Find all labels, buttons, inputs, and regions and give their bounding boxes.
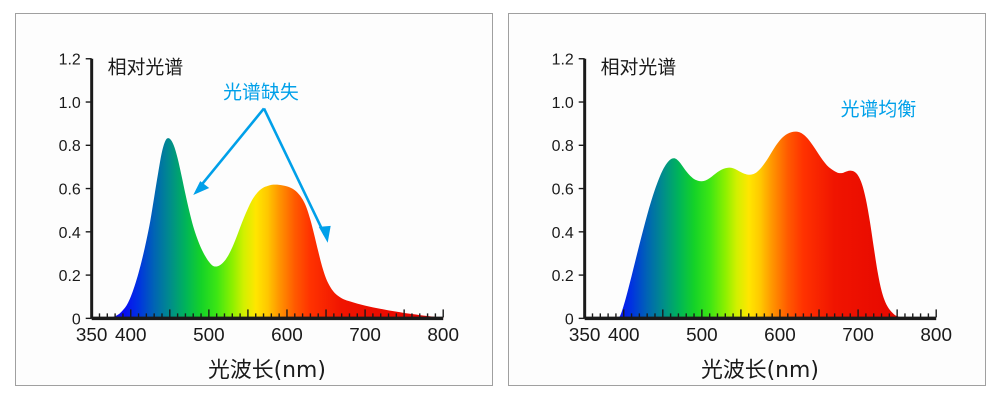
x-tick-label: 400 [115,325,147,346]
arrow-left-head-2 [319,226,331,243]
panel-spectrum-balanced: 00.20.40.60.81.01.2 350400500600700800 相… [508,13,986,386]
y-tick-labels-right: 00.20.40.60.81.01.2 [552,52,574,329]
y-tick-label: 1.2 [59,52,81,69]
y-tick-label: 0.4 [552,225,574,242]
plot-title-right: 相对光谱 [601,57,677,79]
x-tick-label: 700 [842,325,874,346]
y-tick-label: 0.6 [59,182,81,199]
arrow-left-head-1 [193,181,209,195]
y-tick-label: 0.8 [552,138,574,155]
x-tick-labels-left: 350400500600700800 [76,325,459,346]
x-tick-label: 500 [193,325,225,346]
y-tick-labels-left: 00.20.40.60.81.01.2 [59,52,81,329]
figure-root: 00.20.40.60.81.01.2 350400500600700800 相… [0,0,1000,401]
spectrum-curve-left [92,138,444,318]
y-tick-label: 0.8 [59,138,81,155]
y-tick-label: 1.0 [552,95,574,112]
x-tick-label: 600 [764,325,796,346]
x-axis-title-right: 光波长(nm) [701,358,819,383]
right-chart-svg: 00.20.40.60.81.01.2 350400500600700800 相… [509,14,985,385]
y-tick-label: 0.2 [552,268,574,285]
x-tick-label: 800 [427,325,459,346]
y-tick-label: 0.6 [552,182,574,199]
x-tick-label: 500 [686,325,718,346]
annotation-label-left: 光谱缺失 [223,82,299,104]
spectrum-curve-right [585,132,937,319]
x-tick-label: 350 [569,325,601,346]
x-axis-title-left: 光波长(nm) [208,358,326,383]
x-tick-label: 600 [271,325,303,346]
arrow-left-line-1 [197,108,264,190]
y-tick-label: 0.2 [59,268,81,285]
x-tick-label: 350 [76,325,108,346]
annotation-label-right: 光谱均衡 [841,98,917,120]
x-tick-label: 800 [920,325,952,346]
y-tick-label: 0.4 [59,225,81,242]
y-tick-label: 1.2 [552,52,574,69]
y-tick-label: 1.0 [59,95,81,112]
plot-title-left: 相对光谱 [108,57,184,79]
panel-spectrum-deficient: 00.20.40.60.81.01.2 350400500600700800 相… [15,13,493,386]
x-tick-label: 700 [349,325,381,346]
x-tick-label: 400 [608,325,640,346]
x-tick-labels-right: 350400500600700800 [569,325,952,346]
left-chart-svg: 00.20.40.60.81.01.2 350400500600700800 相… [16,14,492,385]
